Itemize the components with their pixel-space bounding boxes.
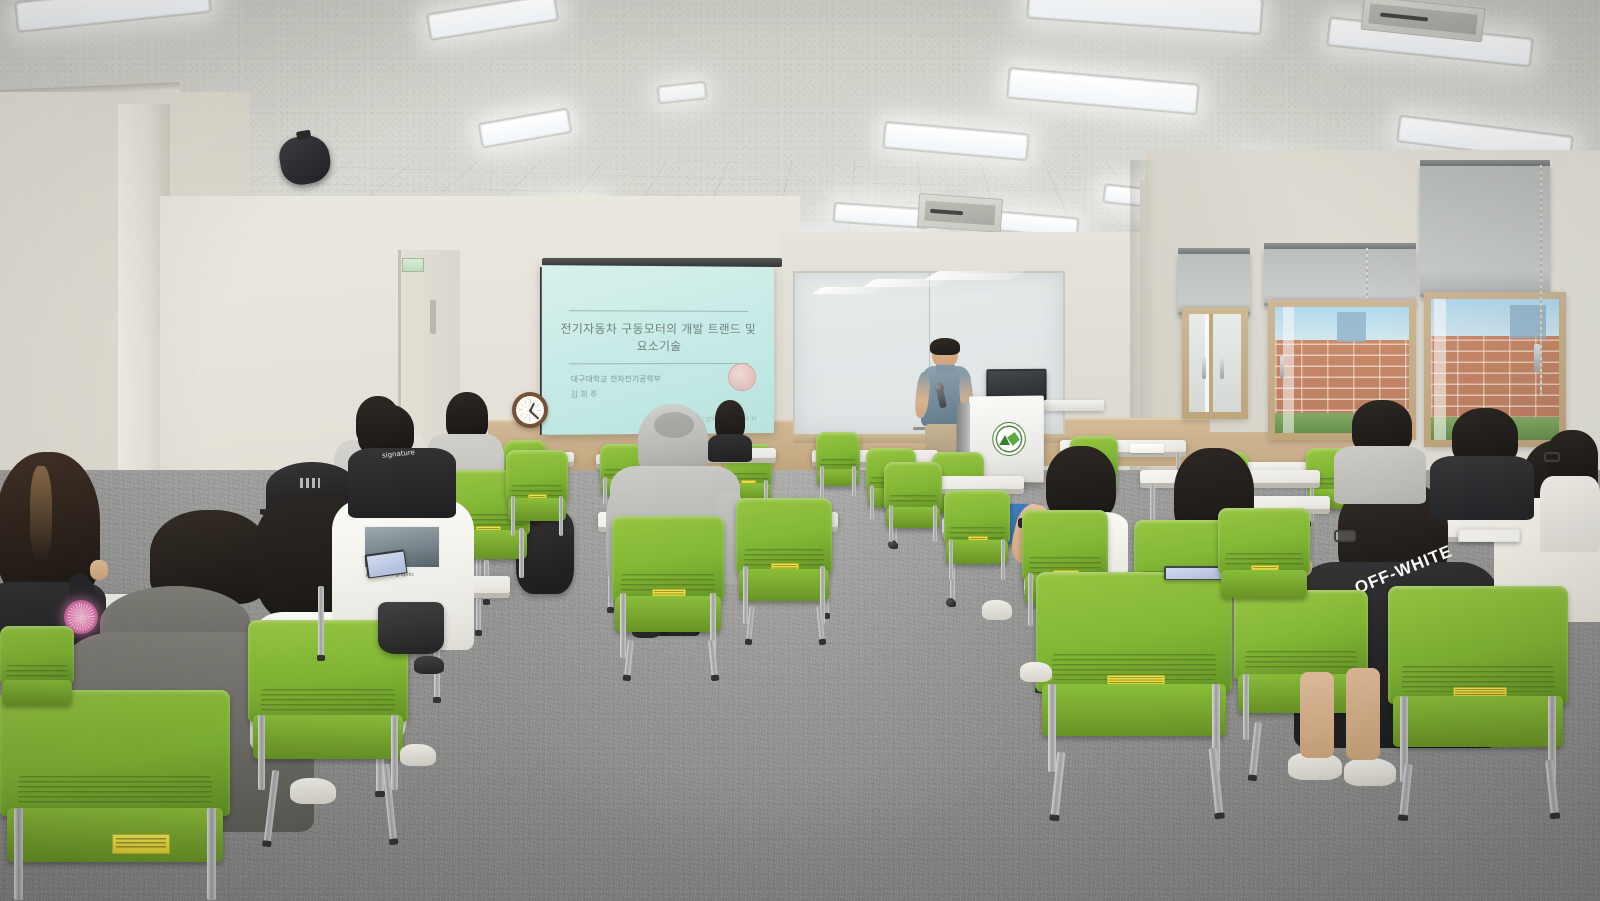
torso <box>1430 456 1534 520</box>
green-stacking-chair[interactable] <box>884 462 942 542</box>
shoe <box>290 778 336 804</box>
roller-blind[interactable] <box>1420 165 1550 297</box>
distant-building <box>1337 312 1366 342</box>
window-glass <box>1189 314 1241 412</box>
shoe <box>1344 758 1396 786</box>
green-stacking-chair[interactable] <box>612 516 724 658</box>
shoe <box>414 656 444 674</box>
wall-clock <box>512 392 548 428</box>
cap-logo <box>300 478 320 488</box>
front-desk-surface <box>1044 400 1104 411</box>
blind-cord[interactable] <box>1540 165 1542 395</box>
collar <box>936 365 955 374</box>
tablet[interactable] <box>1458 528 1520 542</box>
leg-bare <box>1346 668 1380 760</box>
green-stacking-chair[interactable] <box>0 626 74 722</box>
leg-bare <box>1300 672 1334 758</box>
recessed-led-panel <box>659 84 704 102</box>
lecture-hall-photo: 전기자동차 구동모터의 개발 트랜드 및 요소기술 대구대학교 전자전기공학부 … <box>0 0 1600 901</box>
chair-leg <box>318 586 324 656</box>
shoe <box>400 744 436 766</box>
green-stacking-chair[interactable] <box>1036 572 1232 772</box>
torso <box>1334 446 1426 504</box>
hood-shadow <box>654 412 694 438</box>
roller-blind[interactable] <box>1178 253 1250 315</box>
shoe <box>982 600 1012 620</box>
torso <box>348 448 456 518</box>
torso <box>1540 476 1600 552</box>
window-handle[interactable] <box>1202 357 1206 379</box>
student-back-right <box>1430 408 1536 518</box>
window-handle[interactable] <box>1280 356 1284 378</box>
slide-presenter-name: 김 희 주 <box>571 389 597 400</box>
window-handle[interactable] <box>1220 357 1224 379</box>
university-seal-icon <box>728 363 756 391</box>
roller-blind[interactable] <box>1264 248 1416 306</box>
hair <box>930 338 960 355</box>
green-stacking-chair[interactable] <box>1218 508 1310 618</box>
green-stacking-chair[interactable] <box>816 432 860 498</box>
handbag <box>378 602 444 654</box>
shoe <box>1020 662 1052 682</box>
ceiling-ac-cassette <box>917 193 1003 233</box>
slide-affiliation: 대구대학교 전자전기공학부 <box>571 373 661 384</box>
chair-sticker-lines <box>116 838 166 850</box>
eyeglasses <box>1544 452 1560 462</box>
eyeglasses <box>1334 530 1356 542</box>
slide-title: 전기자동차 구동모터의 개발 트랜드 및 요소기술 <box>554 320 762 355</box>
list-item: signature <box>356 404 466 514</box>
student-gray-tee-right <box>1334 400 1430 500</box>
green-stacking-chair[interactable] <box>944 490 1010 580</box>
exit-sign <box>402 258 424 272</box>
student-far-right-edge <box>1540 430 1600 550</box>
green-stacking-chair[interactable] <box>506 450 568 536</box>
window-far[interactable] <box>1182 307 1248 419</box>
green-stacking-chair[interactable] <box>1388 586 1568 782</box>
door-handle-plate <box>430 300 436 334</box>
desk-caster <box>946 598 955 607</box>
recessed-led-panel <box>836 205 929 226</box>
